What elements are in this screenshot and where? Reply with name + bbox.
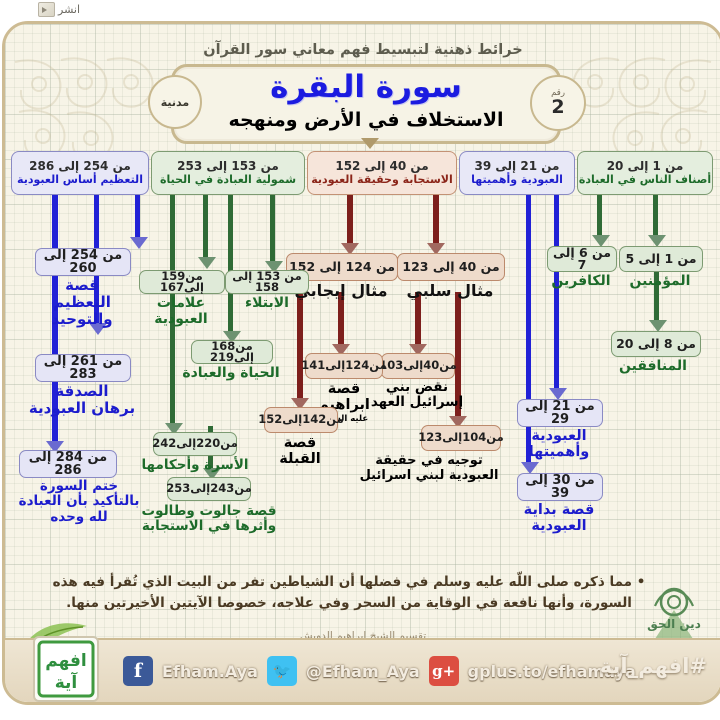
caption-hypocrites: المنافقين	[603, 359, 703, 375]
node-talut-range[interactable]: من243إلى253	[167, 477, 251, 501]
revelation-type-badge: مدنية	[148, 75, 202, 129]
node-guidance-range[interactable]: من104إلى123	[421, 425, 501, 451]
node-hypocrites-range[interactable]: من 8 إلى 20	[611, 331, 701, 357]
surah-number-value: 2	[551, 98, 564, 117]
title-stem-arrow	[361, 138, 379, 149]
node-covenant-break-range[interactable]: من40إلى103	[381, 353, 455, 379]
section-1[interactable]: من 1 إلى 20 أصناف الناس في العبادة	[577, 151, 713, 195]
footer-note: • مما ذكره صلى اللّه عليه وسلم في فضلها …	[51, 572, 647, 614]
caption-family: الأسرة وأحكامها	[137, 458, 253, 473]
section-range: من 254 إلى 286	[29, 160, 131, 173]
poster-card: خرائط ذهنية لتبسيط فهم معاني سور القرآن …	[2, 21, 720, 705]
connector-line	[270, 193, 275, 263]
connector-line	[433, 193, 439, 245]
node-negative-example-range[interactable]: من 40 إلى 123	[397, 253, 505, 281]
google-plus-icon[interactable]: g+	[429, 656, 459, 686]
section-4[interactable]: من 153 إلى 253 شمولية العبادة في الحياة	[151, 151, 305, 195]
node-servitude-range[interactable]: من 21 إلى 29	[517, 399, 603, 427]
node-family-range[interactable]: من220إلى242	[153, 432, 237, 456]
node-conclusion-range[interactable]: من 284 إلى 286	[19, 450, 117, 478]
kicker-text: خرائط ذهنية لتبسيط فهم معاني سور القرآن	[5, 42, 720, 58]
surah-number-badge: رقم 2	[530, 75, 586, 131]
caption-disbelievers: الكافرين	[541, 274, 621, 290]
infographic-root: انشر	[0, 0, 720, 720]
caption-trial: الابتلاء	[221, 296, 313, 312]
twitter-label[interactable]: @Efham_Aya	[306, 662, 420, 681]
caption-negative-example: مثال سلبي	[393, 282, 507, 300]
hashtag-label: #افهم_آية	[600, 654, 707, 678]
svg-text:دين الحق: دين الحق	[647, 617, 701, 631]
footer-note-line1: • مما ذكره صلى اللّه عليه وسلم في فضلها …	[51, 572, 647, 593]
section-title: شمولية العبادة في الحياة	[160, 174, 296, 186]
caption-conclusion: ختم السورة بالتأكيد بأن العبادة لله وحده	[11, 479, 147, 525]
share-strip: انشر	[0, 0, 720, 22]
section-title: الاستجابة وحقيقة العبودية	[311, 174, 453, 186]
header-band: خرائط ذهنية لتبسيط فهم معاني سور القرآن …	[5, 24, 720, 144]
connector-arrow	[130, 237, 148, 249]
share-icon	[38, 2, 55, 17]
section-range: من 21 إلى 39	[475, 160, 560, 173]
caption-life-worship: الحياة والعبادة	[165, 366, 297, 382]
facebook-icon[interactable]: f	[123, 656, 153, 686]
connector-line	[203, 193, 208, 259]
section-title: أصناف الناس في العبادة	[579, 174, 711, 186]
caption-charity: الصدقة برهان العبودية	[17, 383, 147, 417]
caption-believers: المؤمنين	[613, 274, 707, 290]
twitter-icon[interactable]: 🐦	[267, 656, 297, 686]
section-range: من 153 إلى 253	[177, 160, 279, 173]
connector-line	[415, 292, 421, 346]
connector-line	[653, 193, 658, 237]
node-beginning-story-range[interactable]: من 30 إلى 39	[517, 473, 603, 501]
node-believers-range[interactable]: من 1 إلى 5	[619, 246, 703, 272]
section-title: العبودية وأهميتها	[471, 174, 563, 186]
node-trial-range[interactable]: من 153 إلى 158	[225, 270, 309, 294]
main-sections-bar: من 1 إلى 20 أصناف الناس في العبادة من 21…	[11, 151, 715, 193]
connector-line	[338, 292, 344, 346]
share-button[interactable]: انشر	[38, 2, 80, 17]
section-2[interactable]: من 21 إلى 39 العبودية وأهميتها	[459, 151, 575, 195]
title-plaque: سورة البقرة الاستخلاف في الأرض ومنهجه رق…	[171, 64, 561, 144]
social-bottom-bar: افهم آية f Efham.Aya 🐦 @Efham_Aya g+ gpl…	[5, 638, 720, 702]
node-signs-range[interactable]: من159 إلى167	[139, 270, 225, 294]
page-title: سورة البقرة	[174, 69, 558, 105]
share-label: انشر	[58, 3, 80, 16]
section-5[interactable]: من 254 إلى 286 التعظيم أساس العبودية	[11, 151, 149, 195]
section-title: التعظيم أساس العبودية	[17, 174, 143, 186]
connector-line	[597, 193, 602, 237]
caption-servitude: العبودية وأهميتها	[505, 428, 613, 461]
caption-guidance: توجيه في حقيقة العبودية لبني اسرائيل	[353, 454, 505, 483]
caption-glorification: قصة التعظيم والتوحيد	[29, 277, 135, 328]
facebook-label[interactable]: Efham.Aya	[162, 662, 258, 681]
node-glorification-range[interactable]: من 254 إلى 260	[35, 248, 131, 276]
caption-talut: قصة جالوت وطالوت وأثرها في الاستجابة	[133, 504, 285, 535]
node-life-worship-range[interactable]: من168 إلى219	[191, 340, 273, 364]
surah-subtitle: الاستخلاف في الأرض ومنهجه	[174, 109, 558, 131]
node-qibla-range[interactable]: من142إلى152	[264, 407, 338, 433]
connector-line	[347, 193, 353, 245]
caption-qibla: قصة القبلة	[262, 435, 338, 468]
section-range: من 40 إلى 152	[335, 160, 428, 173]
section-range: من 1 إلى 20	[607, 160, 684, 173]
connector-line	[554, 193, 559, 391]
connector-line	[135, 193, 140, 239]
caption-beginning-story: قصة بداية العبودية	[503, 502, 615, 535]
section-3[interactable]: من 40 إلى 152 الاستجابة وحقيقة العبودية	[307, 151, 457, 195]
node-disbelievers-range[interactable]: من 6 إلى 7	[547, 246, 617, 272]
caption-signs: علامات العبودية	[133, 296, 229, 328]
footer-note-line2: السورة، وأنها نافعة في الوقاية من السحر …	[51, 593, 647, 614]
connector-arrow	[198, 257, 216, 269]
node-charity-range[interactable]: من 261 إلى 283	[35, 354, 131, 382]
node-ibrahim-range[interactable]: من124إلى141	[305, 353, 383, 379]
